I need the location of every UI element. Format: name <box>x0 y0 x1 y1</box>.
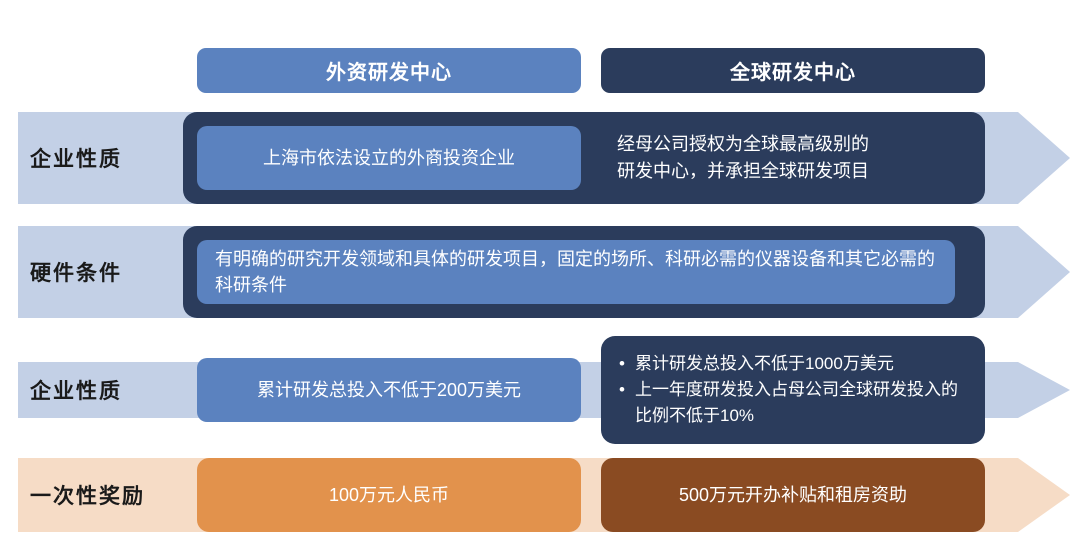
row-label-one-time-award: 一次性奖励 <box>30 458 145 532</box>
row-arrow-tip-icon <box>1018 362 1070 418</box>
bullet-icon: • <box>619 351 625 377</box>
table-row-enterprise-nature-2: 企业性质 累计研发总投入不低于200万美元 • 累计研发总投入不低于1000万美… <box>0 336 1080 444</box>
row-arrow-tip-icon <box>1018 458 1070 532</box>
column-header-foreign-rd-center: 外资研发中心 <box>197 48 581 93</box>
list-item-label: 上一年度研发投入占母公司全球研发投入的比例不低于10% <box>635 380 958 425</box>
cell-global-enterprise-nature: 经母公司授权为全球最高级别的 研发中心，并承担全球研发项目 <box>605 112 985 204</box>
cell-foreign-rd-investment: 累计研发总投入不低于200万美元 <box>197 358 581 422</box>
column-header-global-rd-center: 全球研发中心 <box>601 48 985 93</box>
bullet-list: • 累计研发总投入不低于1000万美元 • 上一年度研发投入占母公司全球研发投入… <box>617 351 973 428</box>
row-label-hardware-conditions: 硬件条件 <box>30 226 122 318</box>
table-row-one-time-award: 一次性奖励 100万元人民币 500万元开办补贴和租房资助 <box>0 458 1080 532</box>
row-label-enterprise-nature: 企业性质 <box>30 362 122 418</box>
list-item-label: 累计研发总投入不低于1000万美元 <box>635 354 894 373</box>
row-arrow-tip-icon <box>1018 226 1070 318</box>
cell-foreign-award: 100万元人民币 <box>197 458 581 532</box>
cell-foreign-enterprise-nature: 上海市依法设立的外商投资企业 <box>197 126 581 190</box>
table-row-enterprise-nature-1: 企业性质 上海市依法设立的外商投资企业 经母公司授权为全球最高级别的 研发中心，… <box>0 112 1080 204</box>
row-arrow-tip-icon <box>1018 112 1070 204</box>
slide-canvas: 外资研发中心 全球研发中心 企业性质 上海市依法设立的外商投资企业 经母公司授权… <box>0 0 1080 548</box>
table-row-hardware-conditions: 硬件条件 有明确的研究开发领域和具体的研发项目，固定的场所、科研必需的仪器设备和… <box>0 226 1080 318</box>
list-item: • 上一年度研发投入占母公司全球研发投入的比例不低于10% <box>617 377 973 429</box>
cell-global-rd-investment: • 累计研发总投入不低于1000万美元 • 上一年度研发投入占母公司全球研发投入… <box>607 336 983 444</box>
cell-hardware-conditions-merged: 有明确的研究开发领域和具体的研发项目，固定的场所、科研必需的仪器设备和其它必需的… <box>197 240 955 304</box>
list-item: • 累计研发总投入不低于1000万美元 <box>617 351 973 377</box>
cell-global-award: 500万元开办补贴和租房资助 <box>601 458 985 532</box>
row-label-enterprise-nature: 企业性质 <box>30 112 122 204</box>
bullet-icon: • <box>619 377 625 403</box>
